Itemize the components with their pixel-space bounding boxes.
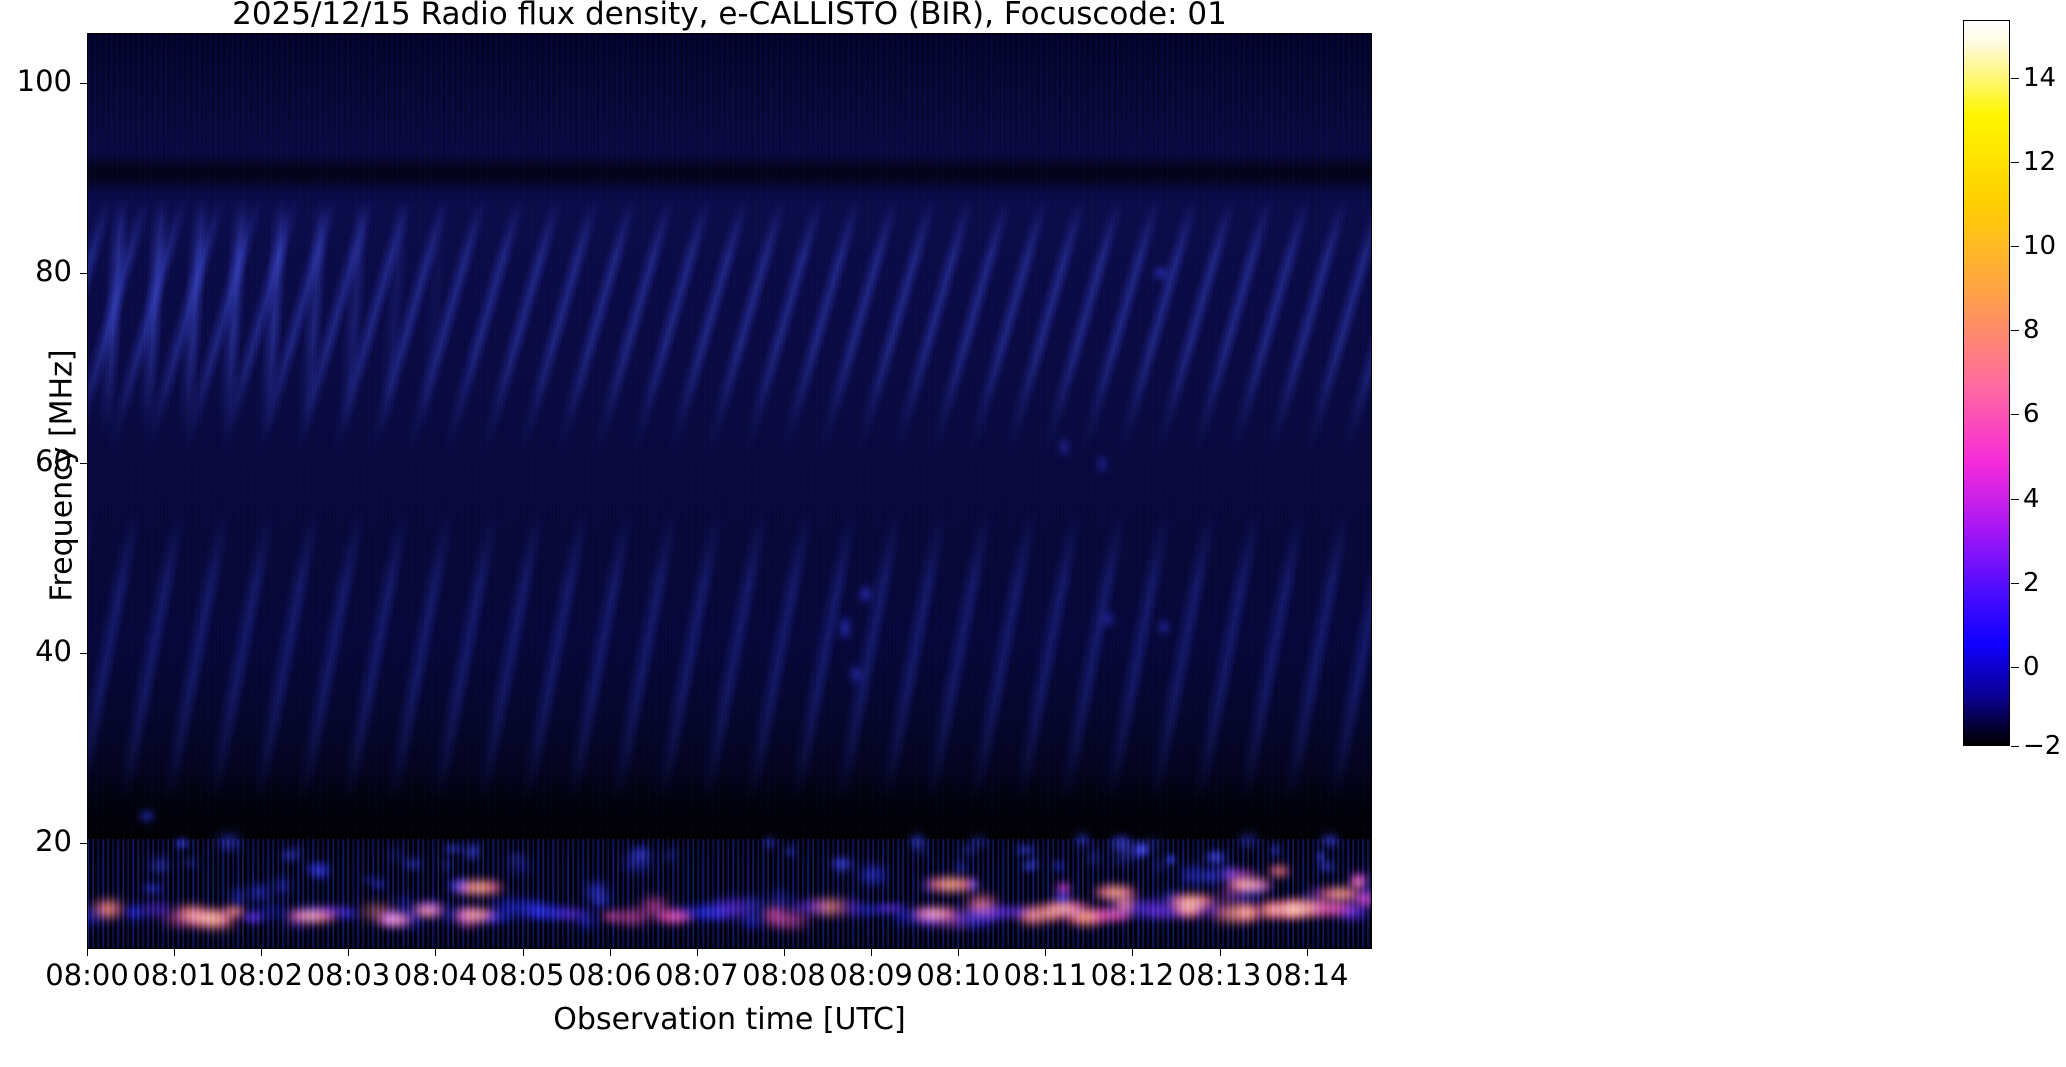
x-tick-mark xyxy=(610,949,611,956)
colorbar-tick-mark xyxy=(2011,414,2019,415)
x-tick-label: 08:05 xyxy=(481,958,565,992)
x-tick-mark xyxy=(174,949,175,956)
x-tick-mark xyxy=(697,949,698,956)
colorbar-tick-label: 6 xyxy=(2023,399,2040,429)
x-tick-mark xyxy=(784,949,785,956)
figure-canvas: 2025/12/15 Radio flux density, e-CALLIST… xyxy=(0,0,2066,1067)
spectrogram-plot-area[interactable] xyxy=(87,33,1372,949)
x-tick-label: 08:01 xyxy=(132,958,216,992)
x-tick-label: 08:04 xyxy=(394,958,478,992)
colorbar-tick-label: −2 xyxy=(2023,731,2061,761)
x-tick-label: 08:11 xyxy=(1004,958,1088,992)
colorbar-tick-mark xyxy=(2011,583,2019,584)
colorbar-tick-mark xyxy=(2011,746,2019,747)
colorbar-tick-label: 8 xyxy=(2023,315,2040,345)
x-tick-label: 08:10 xyxy=(916,958,1000,992)
colorbar-tick-mark xyxy=(2011,162,2019,163)
x-tick-mark xyxy=(435,949,436,956)
colorbar-tick-label: 2 xyxy=(2023,568,2040,598)
x-tick-mark xyxy=(87,949,88,956)
colorbar-tick-label: 0 xyxy=(2023,652,2040,682)
x-tick-mark xyxy=(871,949,872,956)
x-tick-label: 08:02 xyxy=(219,958,303,992)
x-tick-mark xyxy=(1307,949,1308,956)
colorbar[interactable] xyxy=(1963,20,2010,746)
y-tick-mark xyxy=(80,273,87,274)
x-tick-label: 08:08 xyxy=(742,958,826,992)
colorbar-tick-label: 4 xyxy=(2023,484,2040,514)
y-tick-mark xyxy=(80,843,87,844)
y-tick-label: 20 xyxy=(2,824,72,858)
x-tick-mark xyxy=(1045,949,1046,956)
x-tick-mark xyxy=(1132,949,1133,956)
colorbar-tick-mark xyxy=(2011,667,2019,668)
colorbar-tick-mark xyxy=(2011,78,2019,79)
x-tick-mark xyxy=(1220,949,1221,956)
x-tick-label: 08:13 xyxy=(1178,958,1262,992)
colorbar-tick-label: 14 xyxy=(2023,63,2056,93)
colorbar-tick-label: 12 xyxy=(2023,147,2056,177)
colorbar-tick-mark xyxy=(2011,499,2019,500)
y-tick-mark xyxy=(80,463,87,464)
y-tick-mark xyxy=(80,653,87,654)
top-speckle-noise-layer xyxy=(87,33,1372,949)
x-tick-label: 08:14 xyxy=(1265,958,1349,992)
y-axis-label: Frequency [MHz] xyxy=(45,176,80,776)
x-tick-mark xyxy=(348,949,349,956)
x-tick-label: 08:09 xyxy=(829,958,913,992)
x-tick-label: 08:00 xyxy=(45,958,129,992)
y-tick-mark xyxy=(80,83,87,84)
x-tick-label: 08:07 xyxy=(655,958,739,992)
x-tick-label: 08:03 xyxy=(307,958,391,992)
colorbar-tick-label: 10 xyxy=(2023,231,2056,261)
colorbar-tick-mark xyxy=(2011,246,2019,247)
y-tick-label: 100 xyxy=(2,64,72,98)
x-tick-label: 08:06 xyxy=(568,958,652,992)
x-tick-mark xyxy=(958,949,959,956)
x-tick-label: 08:12 xyxy=(1091,958,1175,992)
x-axis-label: Observation time [UTC] xyxy=(87,1002,1372,1037)
chart-title: 2025/12/15 Radio flux density, e-CALLIST… xyxy=(87,0,1372,31)
x-tick-mark xyxy=(523,949,524,956)
x-tick-mark xyxy=(261,949,262,956)
colorbar-tick-mark xyxy=(2011,330,2019,331)
